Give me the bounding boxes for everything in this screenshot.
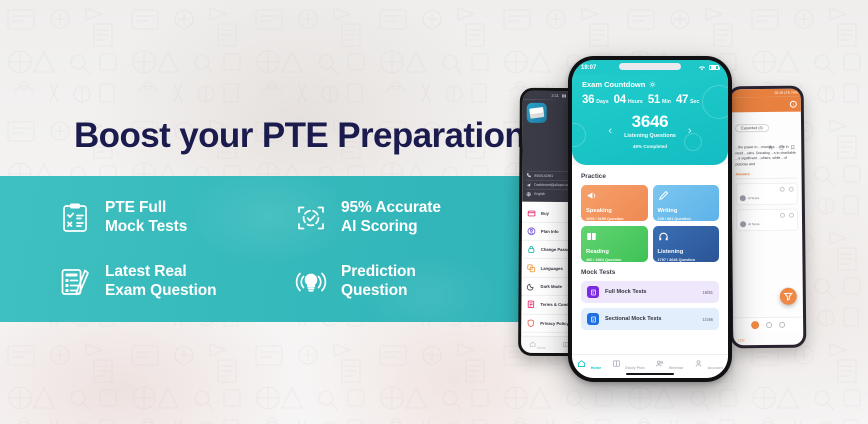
phone-center: 19:07 Exam Countdown 36 Days 04 [568,56,732,382]
dislike-icon[interactable] [780,212,785,217]
feature-label: Prediction Question [341,263,416,301]
expanded-chip[interactable]: Expanded (3) [735,124,769,133]
answer-card: AI Score [736,208,798,231]
audio-timestamp: 1:13s [737,338,744,342]
countdown-min-unit: Min [662,99,671,105]
battery-icon [709,65,719,71]
status-time: 19:07 [581,65,596,71]
copy-icon[interactable] [779,137,784,142]
phone-center-body: Practice Speaking 1655 / 5199 Question W… [572,165,728,354]
scan-check-icon [294,201,328,235]
audio-player-bar [733,317,803,332]
practice-card-speaking[interactable]: Speaking 1655 / 5199 Question [581,185,648,221]
like-icon[interactable] [789,186,794,191]
practice-heading: Practice [581,173,719,180]
countdown-days-value: 36 [582,94,594,106]
practice-card-count: 1655 / 5199 Question [586,217,643,221]
answer-card: AI Score [736,182,798,205]
score-pill: AI Score [740,220,794,227]
practice-card-count: 1797 / 3646 Question [658,258,715,262]
countdown-sec-unit: Sec [690,99,699,105]
send-icon [526,182,531,187]
phone-right-screen: 02:19 LTE 76% i Expanded (3) ...the powe… [731,89,804,346]
menu-label: Plan Info [541,229,559,234]
shield-doc-icon [526,319,535,328]
doc-icon [526,300,535,309]
status-time: 2:11 [551,93,559,98]
menu-label: Privacy Policy [540,321,568,326]
feature-item-mock-tests: PTE Full Mock Tests [58,186,276,250]
score-pill: AI Score [740,194,794,201]
phone-center-screen: 19:07 Exam Countdown 36 Days 04 [572,60,728,378]
countdown-min-value: 51 [648,94,660,106]
menu-label: Languages [541,266,563,271]
moon-icon [527,282,536,291]
countdown-row: 36 Days 04 Hours 51 Min 47 Sec [582,94,718,106]
hero-title: Exam Countdown [582,80,645,89]
pencil-icon [658,190,669,201]
like-icon[interactable] [789,212,794,217]
menu-label: Buy [541,210,549,215]
people-icon [655,359,664,368]
phone-right-content: Expanded (3) ...the power to ...munities… [731,112,802,231]
tab-webinar[interactable]: Webinar [655,356,683,374]
filter-fab-button[interactable] [780,288,797,305]
user-circle-icon [527,227,536,236]
filter-icon [784,292,793,301]
card-icon [527,208,536,217]
repeat-icon[interactable] [766,321,772,327]
practice-card-listening[interactable]: Listening 1797 / 3646 Question [653,226,720,262]
practice-card-count: 235 / 681 Question [658,217,715,221]
feature-label: Latest Real Exam Question [105,263,217,301]
practice-card-count: 480 / 2864 Question [586,258,643,262]
practice-grid: Speaking 1655 / 5199 Question Writing 23… [581,185,719,262]
info-circle-icon[interactable]: i [790,101,797,108]
bookmark-icon[interactable] [790,137,795,142]
practice-card-name: Writing [658,209,715,215]
book-icon [612,359,621,368]
broadcast-bulb-icon [294,265,328,299]
chevron-left-icon[interactable]: ‹ [608,126,612,137]
feature-item-prediction: Prediction Question [294,250,512,314]
font-size-icon[interactable] [768,137,773,142]
hero-title-row: Exam Countdown [582,80,718,89]
full-mock-icon [587,286,599,298]
clipboard-checklist-icon [58,201,92,235]
ring-value: 3646 [632,112,669,131]
mock-test-row-sectional[interactable]: Sectional Mock Tests 1/166 [581,308,719,330]
tab-home[interactable]: Home [529,340,545,349]
countdown-days-unit: Days [596,99,608,105]
wifi-icon [698,65,706,71]
tab-home[interactable]: Home [577,356,601,374]
feature-item-exam-question: Latest Real Exam Question [58,250,276,314]
practice-card-name: Speaking [586,209,643,215]
mock-test-count: 19/81 [703,290,713,295]
answers-tab[interactable]: Answers [736,171,798,179]
play-button[interactable] [751,321,759,329]
lock-icon [527,245,536,254]
practice-card-writing[interactable]: Writing 235 / 681 Question [653,185,720,221]
mock-test-count: 1/166 [703,317,713,322]
document-pencil-icon [58,265,92,299]
globe-icon [526,192,531,197]
translate-icon [527,263,536,272]
dislike-icon[interactable] [780,186,785,191]
reading-paragraph: ...the power to ...munities, ...ose in n… [735,145,797,168]
feature-label: PTE Full Mock Tests [105,199,187,237]
sectional-mock-icon [587,313,599,325]
feature-item-ai-scoring: 95% Accurate AI Scoring [294,186,512,250]
home-icon [577,359,586,368]
phone-notch [619,63,681,70]
menu-label: Dark Mode [541,284,562,289]
shuffle-icon[interactable] [779,321,785,327]
headphone-icon [658,231,669,242]
phone-right-header: i [731,97,801,113]
mock-test-label: Full Mock Tests [605,289,697,295]
ring-label: Listening Questions [624,133,676,139]
person-icon [694,359,703,368]
practice-card-name: Reading [586,250,643,256]
exam-countdown-hero: Exam Countdown 36 Days 04 Hours 51 Min 4… [572,75,728,165]
practice-card-name: Listening [658,250,715,256]
countdown-hours-value: 04 [614,94,626,106]
phone-right: 02:19 LTE 76% i Expanded (3) ...the powe… [728,86,807,349]
tab-study-plan[interactable]: Study Plan [612,356,645,374]
banner-canvas: Boost your PTE Preparation PTE Full Mock… [0,0,868,424]
feature-list: PTE Full Mock Tests 95% Accurate AI Scor… [58,186,513,314]
countdown-hours-unit: Hours [628,99,643,105]
countdown-sec-value: 47 [676,94,688,106]
book-icon [586,231,597,242]
signal-icon: ▮▮ [562,93,566,98]
status-text: 02:19 LTE 76% [775,91,798,95]
mock-test-row-full[interactable]: Full Mock Tests 19/81 [581,281,719,303]
practice-card-reading[interactable]: Reading 480 / 2864 Question [581,226,648,262]
ring-percent: 49% Completed [624,144,676,149]
gear-icon[interactable] [649,81,656,88]
feature-label: 95% Accurate AI Scoring [341,199,441,237]
tab-account[interactable]: Account [694,356,723,374]
avatar [527,103,547,123]
megaphone-icon [586,190,597,201]
phone-icon [526,173,531,178]
reader-tools [735,137,795,143]
page-title: Boost your PTE Preparation [74,116,525,156]
mock-test-label: Sectional Mock Tests [605,316,697,322]
mock-tests-heading: Mock Tests [581,269,719,276]
home-icon [529,340,536,347]
